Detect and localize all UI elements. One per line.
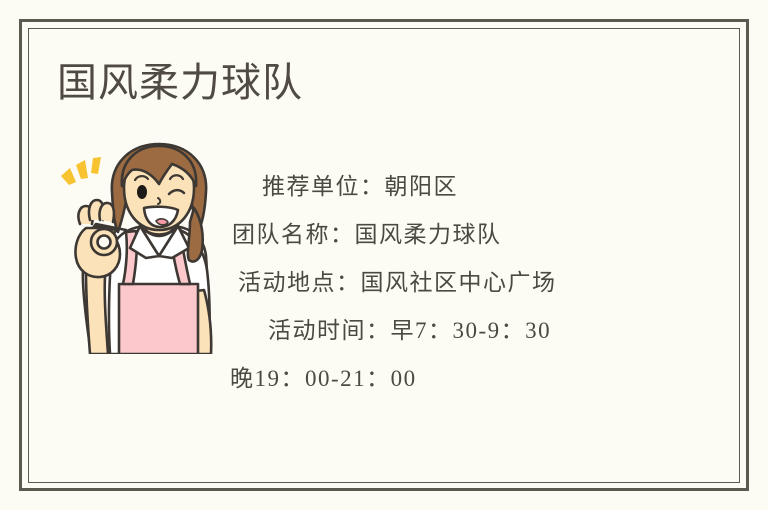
info-line-team-name: 团队名称：国风柔力球队 xyxy=(228,211,698,259)
info-line-location: 活动地点：国风社区中心广场 xyxy=(228,259,698,307)
sparkle-icon xyxy=(61,157,101,185)
info-line-time-morning: 活动时间：早7：30-9：30 xyxy=(228,307,698,355)
cheering-woman-illustration xyxy=(52,132,228,354)
activity-info-card: 国风柔力球队 xyxy=(0,0,768,510)
activity-info-block: 推荐单位：朝阳区 团队名称：国风柔力球队 活动地点：国风社区中心广场 活动时间：… xyxy=(228,163,698,403)
info-line-time-evening: 晚19：00-21：00 xyxy=(228,355,698,403)
page-title: 国风柔力球队 xyxy=(57,58,303,108)
info-line-recommend-unit: 推荐单位：朝阳区 xyxy=(228,163,698,211)
